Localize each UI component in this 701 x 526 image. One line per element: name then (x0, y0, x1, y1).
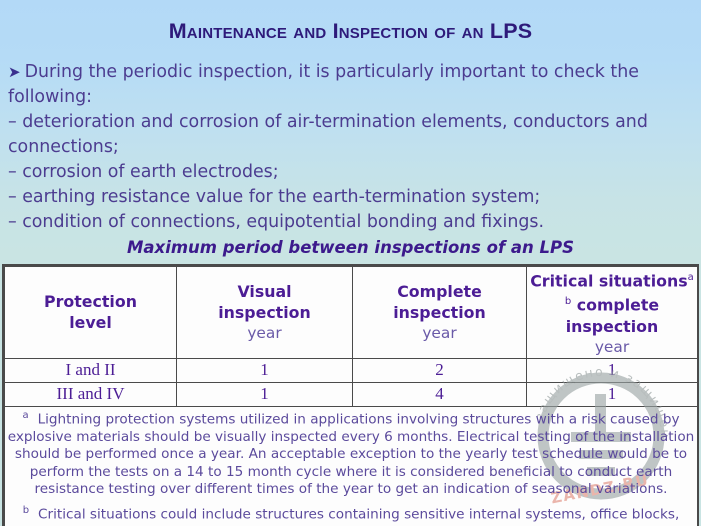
row-2-visual: 1 (177, 382, 353, 406)
table-row: I and II 1 2 1 (5, 358, 698, 382)
header-critical-line2: complete (577, 296, 659, 315)
body-text-block: ➤During the periodic inspection, it is p… (8, 60, 693, 235)
footnote-a-text: Lightning protection systems utilized in… (8, 411, 695, 497)
row-2-level: III and IV (5, 382, 177, 406)
header-critical-line3: inspection (566, 317, 659, 336)
footnote-b: bCritical situations could include struc… (5, 502, 697, 526)
header-critical-line1: Critical situations (530, 271, 687, 290)
footnote-b-text: Critical situations could include struct… (38, 507, 679, 526)
header-complete-inspection: Complete inspection year (353, 267, 527, 359)
body-line-2-continued: connections; (8, 135, 693, 160)
slide-canvas: Maintenance and Inspection of an LPS ➤Du… (0, 0, 701, 526)
footnote-block: aLightning protection systems utilized i… (5, 407, 697, 526)
row-1-level: I and II (5, 358, 177, 382)
table-caption: Maximum period between inspections of an… (0, 238, 701, 257)
table-header-row: Protection level Visual inspection year … (5, 267, 698, 359)
row-1-complete: 2 (353, 358, 527, 382)
body-line-1-continued: following: (8, 85, 693, 110)
body-line-5: – condition of connections, equipotentia… (8, 210, 693, 235)
footnote-a-marker: a (22, 410, 37, 421)
header-critical-sup-a: a (688, 272, 694, 283)
arrow-bullet-icon: ➤ (8, 63, 25, 81)
body-line-1-text: During the periodic inspection, it is pa… (25, 62, 639, 82)
table-row: III and IV 1 4 1 (5, 382, 698, 406)
header-visual-inspection: Visual inspection year (177, 267, 353, 359)
header-protection-level-line1: Protection (44, 292, 137, 311)
header-visual-line1: Visual (237, 282, 291, 301)
footnote-b-marker: b (23, 505, 38, 516)
row-2-complete: 4 (353, 382, 527, 406)
row-1-critical: 1 (527, 358, 698, 382)
inspection-table: Protection level Visual inspection year … (2, 264, 699, 526)
header-critical-unit: year (527, 337, 697, 358)
row-1-visual: 1 (177, 358, 353, 382)
body-line-3: – corrosion of earth electrodes; (8, 160, 693, 185)
body-bullet-line-1: ➤During the periodic inspection, it is p… (8, 60, 693, 85)
header-complete-line2: inspection (393, 303, 486, 322)
header-visual-unit: year (177, 323, 352, 344)
header-protection-level: Protection level (5, 267, 177, 359)
footnote-a: aLightning protection systems utilized i… (5, 407, 697, 500)
footnotes-cell: aLightning protection systems utilized i… (5, 406, 698, 526)
body-line-4: – earthing resistance value for the eart… (8, 185, 693, 210)
table-footnotes-row: aLightning protection systems utilized i… (5, 406, 698, 526)
header-complete-unit: year (353, 323, 526, 344)
header-protection-level-line2: level (69, 313, 112, 332)
header-visual-line2: inspection (218, 303, 311, 322)
header-complete-line1: Complete (397, 282, 482, 301)
body-line-2: – deterioration and corrosion of air-ter… (8, 110, 693, 135)
row-2-critical: 1 (527, 382, 698, 406)
header-critical-situations: Critical situationsa b complete inspecti… (527, 267, 698, 359)
page-title: Maintenance and Inspection of an LPS (0, 19, 701, 44)
header-critical-sup-b: b (565, 296, 571, 307)
